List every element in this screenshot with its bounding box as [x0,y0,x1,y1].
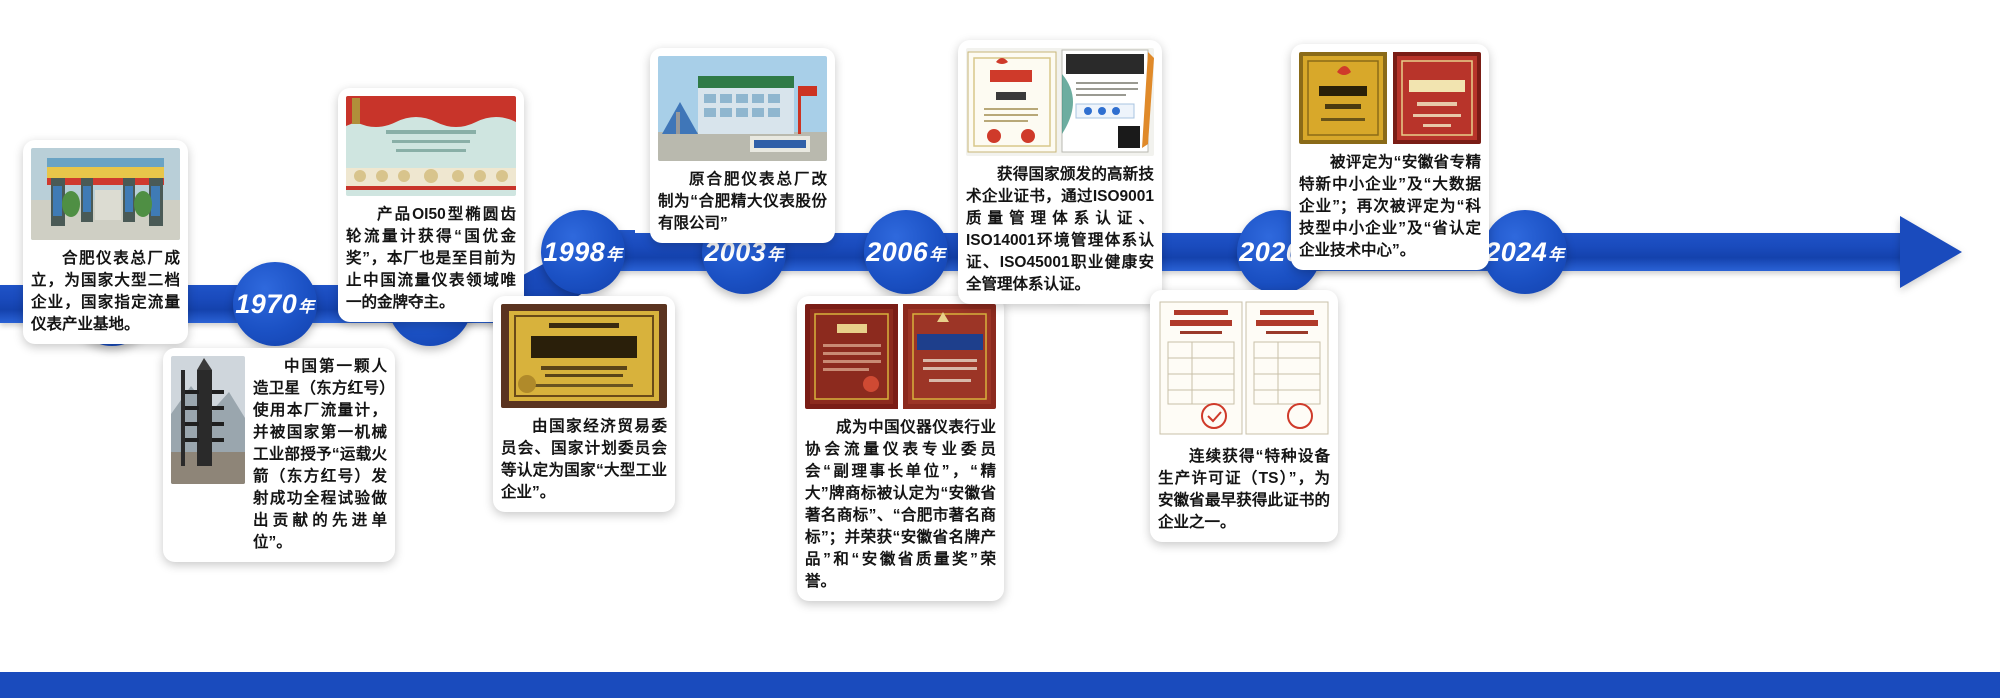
company-building-photo [658,56,827,161]
special-equipment-production-license [1158,298,1330,438]
specialized-sme-plaques [1299,52,1481,144]
milestone-card-2006[interactable]: 成为中国仪器仪表行业协会流量仪表专业委员会“副理事长单位”，“精大”牌商标被认定… [797,296,1004,601]
year-bubble-number: 1998 [543,239,605,266]
milestone-text: 中国第一颗人造卫星（东方红号）使用本厂流量计，并被国家第一机械工业部授予“运载火… [253,356,387,554]
timeline-arrow-head-icon [1900,216,1962,288]
year-bubble-2024[interactable]: 2024 年 [1483,210,1567,294]
year-bubble-suffix: 年 [298,300,315,316]
milestone-text: 合肥仪表总厂成立，为国家大型二档企业，国家指定流量仪表产业基地。 [31,248,180,336]
year-bubble-2006[interactable]: 2006 年 [864,210,948,294]
milestone-text: 成为中国仪器仪表行业协会流量仪表专业委员会“副理事长单位”，“精大”牌商标被认定… [805,417,996,593]
factory-gate-photo [31,148,180,240]
milestone-card-2003[interactable]: 原合肥仪表总厂改制为“合肥精大仪表股份有限公司” [650,48,835,243]
milestone-card-1991[interactable]: 产品OI50型椭圆齿轮流量计获得“国优金奖”，本厂也是至目前为止中国流量仪表领域… [338,88,524,322]
milestone-text: 原合肥仪表总厂改制为“合肥精大仪表股份有限公司” [658,169,827,235]
bottom-accent-bar [0,672,2000,698]
milestone-text: 连续获得“特种设备生产许可证（TS）”，为安徽省最早获得此证书的企业之一。 [1158,446,1330,534]
timeline-infographic: 1958 年 1970 年 1991 年 1998 年 2003 年 2006 … [0,0,2000,698]
year-bubble-1998[interactable]: 1998 年 [541,210,625,294]
year-bubble-1970[interactable]: 1970 年 [233,262,317,346]
year-bubble-number: 1970 [235,291,297,318]
large-scale-industrial-enterprise-plaque [501,304,667,408]
milestone-card-1958[interactable]: 合肥仪表总厂成立，为国家大型二档企业，国家指定流量仪表产业基地。 [23,140,188,344]
trademark-certificates-photo [805,304,996,409]
milestone-text: 被评定为“安徽省专精特新中小企业”及“大数据企业”；再次被评定为“科技型中小企业… [1299,152,1481,262]
milestone-text: 获得国家颁发的高新技术企业证书，通过ISO9001质量管理体系认证、ISO140… [966,164,1154,296]
year-bubble-number: 2006 [866,239,928,266]
milestone-card-1998[interactable]: 由国家经济贸易委员会、国家计划委员会等认定为国家“大型工业企业”。 [493,296,675,512]
year-bubble-number: 2024 [1485,239,1547,266]
national-gold-award-certificate [346,96,516,196]
milestone-card-2020[interactable]: 连续获得“特种设备生产许可证（TS）”，为安徽省最早获得此证书的企业之一。 [1150,290,1338,542]
year-bubble-suffix: 年 [929,248,946,264]
milestone-text: 由国家经济贸易委员会、国家计划委员会等认定为国家“大型工业企业”。 [501,416,667,504]
year-bubble-suffix: 年 [1548,248,1565,264]
year-bubble-suffix: 年 [606,248,623,264]
milestone-card-1970[interactable]: 中国第一颗人造卫星（东方红号）使用本厂流量计，并被国家第一机械工业部授予“运载火… [163,348,395,562]
rocket-launch-photo [171,356,245,484]
milestone-card-2024[interactable]: 被评定为“安徽省专精特新中小企业”及“大数据企业”；再次被评定为“科技型中小企业… [1291,44,1489,270]
milestone-card-2008[interactable]: 获得国家颁发的高新技术企业证书，通过ISO9001质量管理体系认证、ISO140… [958,40,1162,304]
milestone-text: 产品OI50型椭圆齿轮流量计获得“国优金奖”，本厂也是至目前为止中国流量仪表领域… [346,204,516,314]
high-tech-enterprise-certificates [966,48,1154,156]
year-bubble-suffix: 年 [767,248,784,264]
